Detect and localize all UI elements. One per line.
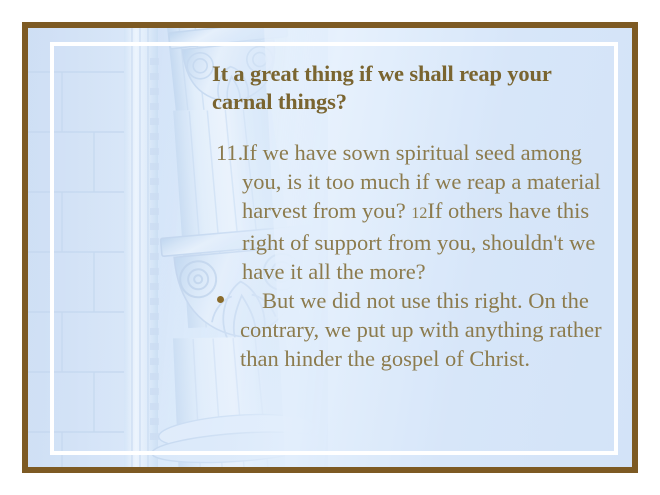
bullet-item-text: But we did not use this right. On the co… (240, 288, 602, 371)
numbered-list-item: 11.If we have sown spiritual seed among … (188, 138, 618, 286)
bullet-point-icon (217, 296, 224, 303)
bulleted-list-item: But we did not use this right. On the co… (188, 286, 618, 373)
slide-body: 11.If we have sown spiritual seed among … (188, 138, 618, 373)
slide-brown-frame: It a great thing if we shall reap your c… (22, 22, 638, 473)
slide-content: It a great thing if we shall reap your c… (28, 28, 632, 467)
slide-title: It a great thing if we shall reap your c… (212, 60, 602, 116)
list-item-number: 11. (216, 138, 243, 167)
presentation-slide: It a great thing if we shall reap your c… (0, 0, 660, 495)
verse-number: 12 (411, 205, 427, 222)
